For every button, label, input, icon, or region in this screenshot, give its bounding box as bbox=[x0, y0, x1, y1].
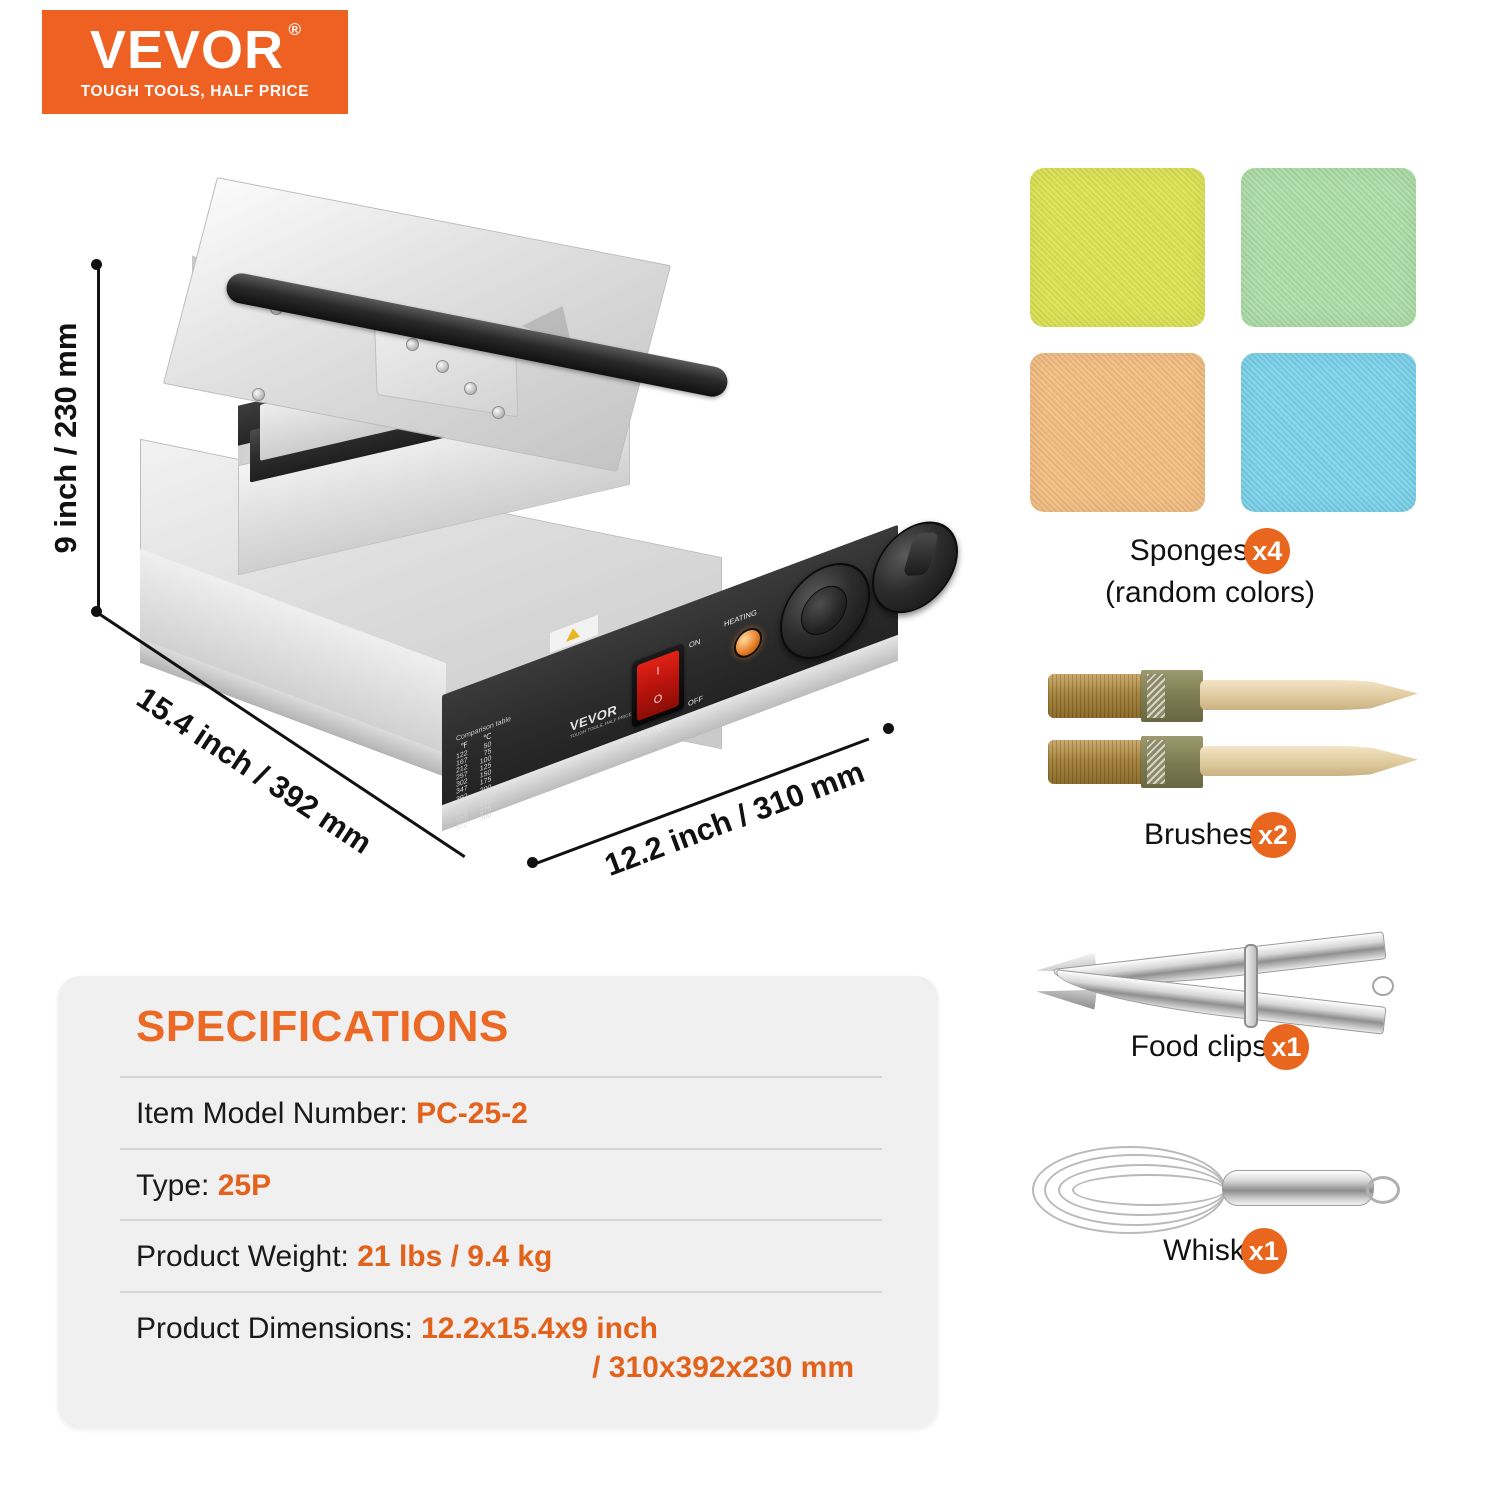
whisk-quantity-badge: x1 bbox=[1241, 1228, 1287, 1274]
spec-row-type: Type: 25P bbox=[120, 1148, 882, 1220]
infographic-page: VEVOR ® TOUGH TOOLS, HALF PRICE bbox=[0, 0, 1500, 1500]
spec-value: 21 lbs / 9.4 kg bbox=[357, 1240, 552, 1273]
label-on: ON bbox=[689, 637, 700, 650]
whisk-wire bbox=[1072, 1174, 1226, 1206]
screw-icon bbox=[464, 382, 477, 395]
screw-icon bbox=[406, 338, 419, 351]
vevor-logo: VEVOR ® TOUGH TOOLS, HALF PRICE bbox=[42, 10, 348, 114]
sponge-item bbox=[1030, 353, 1205, 512]
dimension-endpoint-dot bbox=[91, 259, 102, 270]
label-heating: HEATING bbox=[724, 608, 757, 629]
spec-value: 12.2x15.4x9 inch bbox=[421, 1312, 658, 1345]
brushes-quantity-badge: x2 bbox=[1250, 812, 1296, 858]
brush-handle bbox=[1200, 680, 1418, 710]
logo-brand-text: VEVOR bbox=[90, 20, 284, 80]
label-off: OFF bbox=[688, 694, 703, 709]
spec-label: Type: bbox=[136, 1169, 218, 1202]
sponge-item bbox=[1030, 168, 1205, 327]
tong-hanging-hole bbox=[1372, 976, 1394, 996]
switch-off-symbol: O bbox=[654, 692, 663, 707]
spec-row-model: Item Model Number: PC-25-2 bbox=[120, 1076, 882, 1148]
spec-label: Product Dimensions: bbox=[136, 1312, 421, 1345]
brush-handle bbox=[1200, 746, 1418, 776]
brush-item bbox=[1048, 734, 1418, 790]
screw-icon bbox=[436, 360, 449, 373]
tong-pivot-ring bbox=[1244, 944, 1258, 1028]
sponge-item bbox=[1241, 168, 1416, 327]
sponges-caption: Sponges x4 (random colors) bbox=[1000, 528, 1420, 610]
specifications-list: Item Model Number: PC-25-2 Type: 25P Pro… bbox=[120, 1076, 882, 1394]
spec-label: Product Weight: bbox=[136, 1240, 357, 1273]
logo-tagline: TOUGH TOOLS, HALF PRICE bbox=[81, 83, 310, 101]
brush-bristles bbox=[1048, 674, 1144, 718]
spec-value: 25P bbox=[218, 1169, 271, 1202]
food-clips-label: Food clips bbox=[1131, 1030, 1268, 1064]
sponges-quantity-badge: x4 bbox=[1244, 528, 1290, 574]
whisk-handle bbox=[1222, 1170, 1374, 1206]
sponges-image bbox=[1030, 168, 1416, 512]
brush-item bbox=[1048, 668, 1418, 724]
spec-value: PC-25-2 bbox=[416, 1097, 528, 1130]
heating-indicator-lamp bbox=[734, 624, 762, 662]
food-clips-caption: Food clips x1 bbox=[1020, 1024, 1420, 1070]
screw-icon bbox=[492, 406, 505, 419]
registered-trademark-icon: ® bbox=[289, 21, 303, 38]
logo-wordmark: VEVOR ® bbox=[90, 23, 300, 77]
temperature-comparison-table: Comparison table ℉ 122 167 212 257 302 3… bbox=[456, 691, 576, 832]
height-dimension-line bbox=[97, 265, 100, 613]
sponge-item bbox=[1241, 353, 1416, 512]
power-rocker-switch[interactable]: I O bbox=[632, 643, 684, 728]
food-clips-image bbox=[1036, 940, 1416, 1032]
product-dimension-diagram: Comparison table ℉ 122 167 212 257 302 3… bbox=[0, 150, 960, 940]
spec-value-metric: / 310x392x230 mm bbox=[136, 1348, 882, 1388]
panel-brand-mark: VEVOR TOUGH TOOLS, HALF PRICE bbox=[570, 696, 632, 740]
brush-ferrule bbox=[1141, 736, 1203, 788]
spec-label: Item Model Number: bbox=[136, 1097, 416, 1130]
specifications-card: SPECIFICATIONS Item Model Number: PC-25-… bbox=[58, 976, 938, 1428]
spec-row-weight: Product Weight: 21 lbs / 9.4 kg bbox=[120, 1219, 882, 1291]
dimension-endpoint-dot bbox=[883, 723, 894, 734]
thermostat-knob[interactable] bbox=[780, 549, 870, 673]
timer-knob[interactable] bbox=[872, 508, 958, 626]
specifications-title: SPECIFICATIONS bbox=[136, 1002, 509, 1052]
food-clips-quantity-badge: x1 bbox=[1263, 1024, 1309, 1070]
brushes-caption: Brushes x2 bbox=[1080, 812, 1360, 858]
whisk-hanging-ring bbox=[1366, 1176, 1400, 1204]
height-dimension-label: 9 inch / 230 mm bbox=[48, 308, 84, 568]
fahrenheit-column: ℉ 122 167 212 257 302 347 392 437 482 52… bbox=[456, 741, 468, 832]
whisk-image bbox=[1026, 1140, 1416, 1236]
brushes-label: Brushes bbox=[1144, 818, 1254, 852]
celsius-column: ℃ 50 75 100 125 150 175 200 225 250 275 … bbox=[480, 732, 492, 823]
brush-bristles bbox=[1048, 740, 1144, 784]
switch-on-symbol: I bbox=[656, 665, 659, 678]
whisk-label: Whisk bbox=[1163, 1234, 1245, 1268]
whisk-wires bbox=[1026, 1140, 1236, 1236]
sponges-note: (random colors) bbox=[1000, 576, 1420, 610]
spec-row-dimensions: Product Dimensions: 12.2x15.4x9 inch / 3… bbox=[120, 1291, 882, 1394]
whisk-caption: Whisk x1 bbox=[1060, 1228, 1390, 1274]
brush-ferrule bbox=[1141, 670, 1203, 722]
brushes-image bbox=[1048, 668, 1418, 808]
screw-icon bbox=[252, 388, 265, 401]
sponges-label: Sponges bbox=[1130, 534, 1248, 568]
